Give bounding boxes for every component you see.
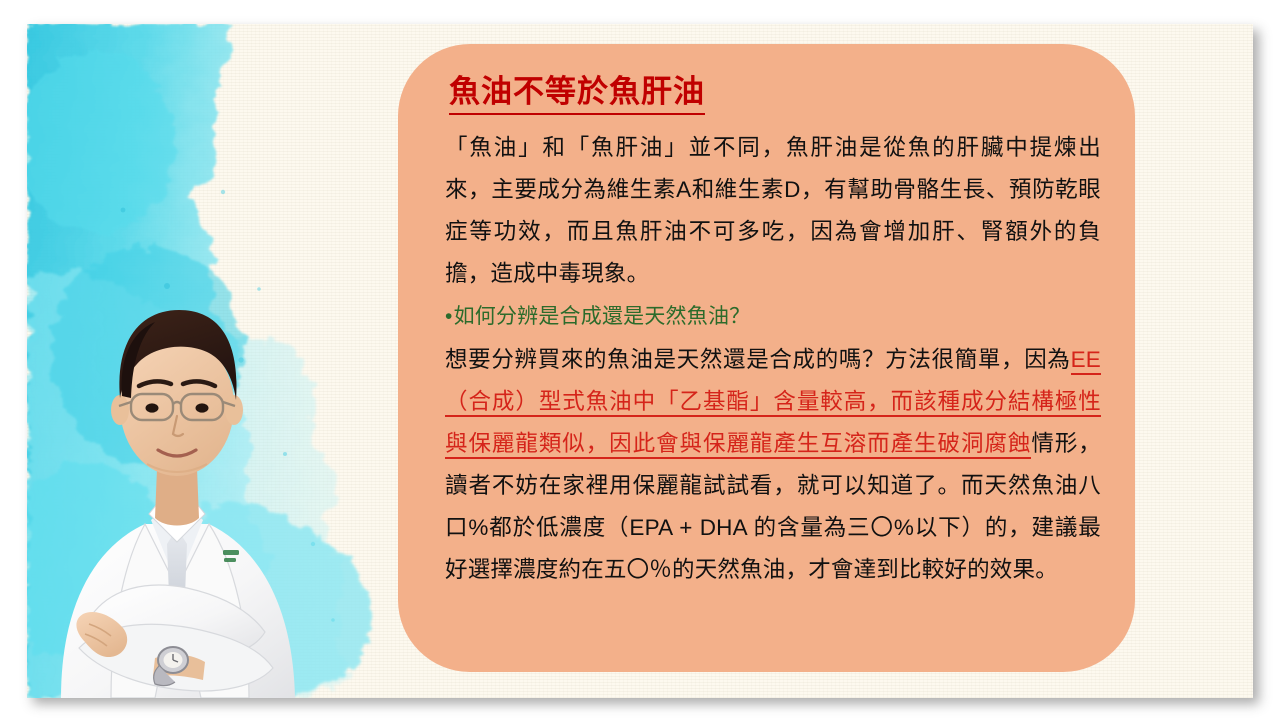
bullet-dot-icon: •: [445, 297, 453, 337]
answer-text-part1: 想要分辨買來的魚油是天然還是合成的嗎？方法很簡單，因為: [445, 347, 1071, 372]
paragraph-intro: 「魚油」和「魚肝油」並不同，魚肝油是從魚的肝臟中提煉出來，主要成分為維生素A和維…: [445, 127, 1101, 295]
bullet-question-text: 如何分辨是合成還是天然魚油？: [454, 305, 751, 328]
slide-frame: 魚油不等於魚肝油 「魚油」和「魚肝油」並不同，魚肝油是從魚的肝臟中提煉出來，主要…: [27, 24, 1253, 698]
paragraph-answer: 想要分辨買來的魚油是天然還是合成的嗎？方法很簡單，因為EE（合成）型式魚油中「乙…: [445, 339, 1101, 591]
doctor-portrait: [27, 228, 327, 698]
page-title: 魚油不等於魚肝油: [449, 74, 705, 115]
slide-root: 魚油不等於魚肝油 「魚油」和「魚肝油」並不同，魚肝油是從魚的肝臟中提煉出來，主要…: [0, 0, 1280, 720]
bullet-question-line: •如何分辨是合成還是天然魚油？: [445, 297, 1101, 337]
content-card: 魚油不等於魚肝油 「魚油」和「魚肝油」並不同，魚肝油是從魚的肝臟中提煉出來，主要…: [398, 44, 1135, 672]
